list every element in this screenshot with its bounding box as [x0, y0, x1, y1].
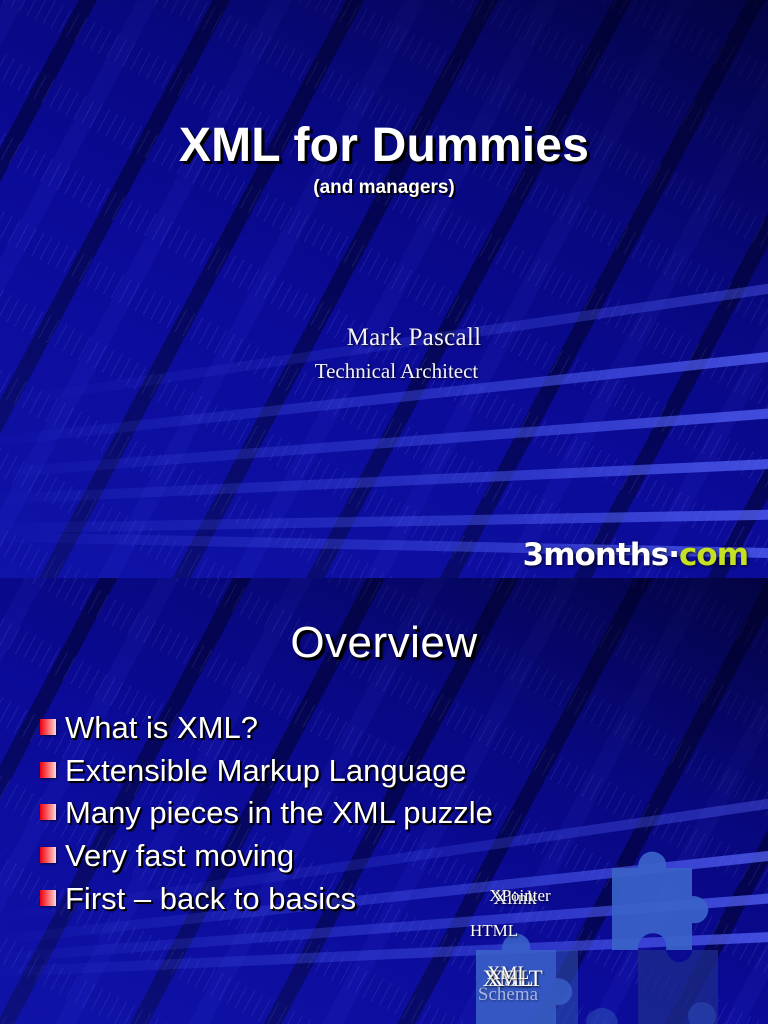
presentation-title: XML for Dummies [0, 118, 768, 173]
puzzle-piece-label: XPointer [470, 886, 570, 906]
list-item: What is XML? [40, 708, 510, 748]
list-item-label: What is XML? [65, 708, 258, 748]
list-item: Many pieces in the XML puzzle [40, 793, 510, 833]
author-role: Technical Architect [0, 359, 768, 384]
list-item-label: Extensible Markup Language [65, 751, 467, 791]
overview-bullet-list: What is XML? Extensible Markup Language … [40, 708, 510, 921]
bullet-square-icon [40, 719, 56, 735]
list-item: Extensible Markup Language [40, 751, 510, 791]
list-item-label: Many pieces in the XML puzzle [65, 793, 493, 833]
slide-deck: XML for Dummies (and managers) Mark Pasc… [0, 0, 768, 1024]
bullet-square-icon [40, 804, 56, 820]
section-title: Overview [0, 618, 768, 668]
brand-logo-name: 3months· [523, 537, 679, 573]
author-block: Mark Pascall Technical Architect [0, 324, 768, 384]
background-light-streaks [0, 0, 768, 578]
presentation-subtitle: (and managers) [0, 177, 768, 199]
slide-title: XML for Dummies (and managers) Mark Pasc… [0, 0, 768, 578]
puzzle-piece-label: HTML [470, 922, 516, 940]
bullet-square-icon [40, 847, 56, 863]
list-item: Very fast moving [40, 836, 510, 876]
title-block: XML for Dummies (and managers) [0, 118, 768, 199]
xml-puzzle-graphic: Xlink XPointer HTML XSLT XML XML Schema [470, 838, 768, 1024]
puzzle-piece-label: XML Schema [470, 964, 546, 1006]
brand-logo-tld: com [679, 537, 748, 573]
slide-overview: Overview What is XML? Extensible Markup … [0, 578, 768, 1024]
puzzle-piece-label-line2: Schema [478, 984, 538, 1005]
list-item-label: First – back to basics [65, 879, 356, 919]
puzzle-piece-label-line1: XML [487, 963, 529, 984]
author-name: Mark Pascall [0, 324, 768, 352]
brand-logo: 3months·com [523, 537, 748, 573]
list-item-label: Very fast moving [65, 836, 294, 876]
bullet-square-icon [40, 762, 56, 778]
bullet-square-icon [40, 890, 56, 906]
list-item: First – back to basics [40, 879, 510, 919]
